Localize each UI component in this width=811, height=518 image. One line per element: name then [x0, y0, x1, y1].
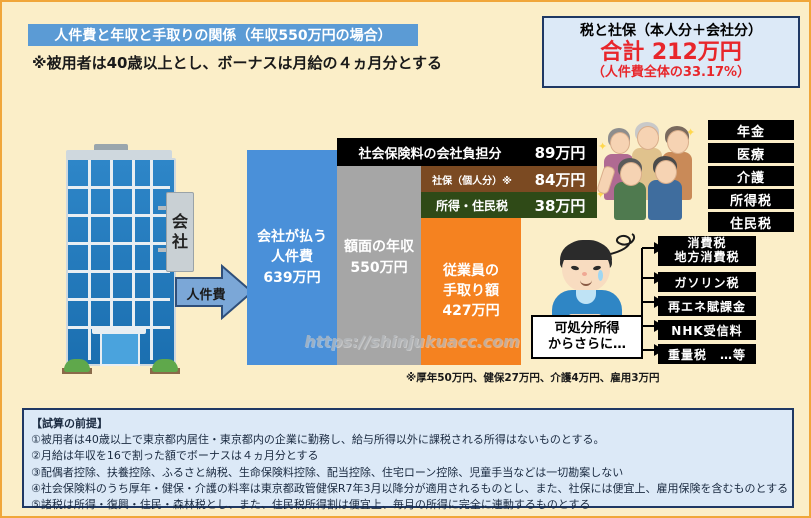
assumptions-note-box: 【試算の前提】 ①被用者は40歳以上で東京都内居住・東京都内の企業に勤務し、給与… [22, 408, 794, 508]
company-building-illustration: 会 社 [50, 144, 200, 374]
consumption-tag-renewable-levy: 再エネ賦課金 [658, 296, 756, 316]
person-body [614, 182, 646, 220]
tax-tag-shotokuzei: 所得税 [708, 189, 794, 209]
bar-net-label-1: 従業員の [443, 261, 499, 281]
callout-line-2: からさらに… [548, 337, 626, 353]
bar-gross-label: 額面の年収 [344, 237, 414, 257]
consumption-tag-nhk-fee: NHK受信料 [658, 320, 756, 340]
crowd-of-people-illustration: ✦ ✦ ✦ [600, 120, 704, 216]
company-sign-char-1: 会 [172, 212, 188, 232]
assumption-line: ①被用者は40歳以上で東京都内居住・東京都内の企業に勤務し、給与所得以外に課税さ… [31, 432, 785, 448]
building-mullion [88, 160, 91, 360]
total-tax-label: 税と社保（本人分＋会社分） [580, 24, 762, 39]
bush-icon [152, 359, 178, 372]
segment-employee-social-insurance: 社保（個人分）※ 84万円 [421, 166, 597, 192]
bar-net-label-2: 手取り額 [443, 281, 499, 301]
total-tax-percent: （人件費全体の33.17%） [592, 66, 750, 80]
building-floor-line [68, 270, 170, 273]
segment-income-resident-tax-label: 所得・住民税 [421, 197, 523, 214]
consumption-tag-shohizei-line-2: 地方消費税 [674, 251, 739, 265]
consumption-tag-gasoline: ガソリン税 [658, 272, 756, 292]
company-sign-char-2: 社 [172, 232, 188, 252]
person-head [667, 130, 689, 154]
total-tax-amount: 合計 212万円 [600, 40, 742, 65]
chart-footnote: ※厚年50万円、健保27万円、介護4万円、雇用3万円 [406, 370, 706, 386]
tax-tag-iryo: 医療 [708, 143, 794, 163]
page-title: 人件費と年収と手取りの関係（年収550万円の場合） [28, 24, 418, 46]
sweat-drop-icon [598, 270, 603, 281]
bar-company-label-1: 会社が払う [257, 227, 327, 247]
building-floor-line [68, 186, 170, 189]
building-floor-line [68, 298, 170, 301]
site-watermark: https://shinjukuacc.com [302, 332, 522, 356]
segment-employer-social-insurance-label: 社会保険料の会社負担分 [337, 143, 523, 162]
bar-gross-value: 550万円 [350, 258, 407, 278]
total-tax-box: 税と社保（本人分＋会社分） 合計 212万円 （人件費全体の33.17%） [542, 16, 800, 88]
assumptions-title: 【試算の前提】 [31, 415, 785, 431]
segment-employer-social-insurance: 社会保険料の会社負担分 89万円 [337, 138, 597, 166]
person-head [620, 162, 642, 186]
sparkle-icon: ✦ [598, 140, 607, 153]
bar-company-value: 639万円 [263, 268, 320, 288]
disposable-income-callout: 可処分所得 からさらに… [531, 315, 643, 359]
assumption-line: ⑤諸税は所得・復興・住民・森林税とし、また、住民税所得割は便宜上、毎月の所得に完… [31, 497, 785, 513]
assumption-line: ④社会保険料のうち厚年・健保・介護の料率は東京都政管健保R7年3月以降分が適用さ… [31, 481, 785, 497]
person-head [637, 126, 659, 150]
building-floor-line [68, 214, 170, 217]
tax-tag-juuminzei: 住民税 [708, 212, 794, 232]
segment-employee-social-insurance-label: 社保（個人分）※ [421, 172, 523, 187]
consumption-tag-shohizei-line-1: 消費税 [687, 237, 726, 251]
person-head [610, 132, 630, 154]
bush-icon [64, 359, 90, 372]
building-mullion [150, 160, 153, 360]
tax-tag-nenkin: 年金 [708, 120, 794, 140]
assumption-line: ③配偶者控除、扶養控除、ふるさと納税、生命保険料控除、配当控除、住宅ローン控除、… [31, 465, 785, 481]
page-subtitle: ※被用者は40歳以上とし、ボーナスは月給の４ヵ月分とする [32, 50, 462, 74]
bar-net-value: 427万円 [442, 301, 499, 321]
bar-company-label-2: 人件費 [271, 247, 313, 267]
person-bangs [560, 242, 612, 260]
person-head [655, 160, 677, 184]
building-floor-line [68, 242, 170, 245]
building-door [100, 332, 140, 366]
segment-income-resident-tax: 所得・住民税 38万円 [421, 192, 597, 218]
consumption-tag-shohizei: 消費税 地方消費税 [658, 236, 756, 266]
assumption-line: ②月給は年収を16で割った額でボーナスは４ヵ月分とする [31, 448, 785, 464]
person-body [648, 180, 682, 220]
segment-employee-social-insurance-value: 84万円 [523, 169, 597, 190]
consumption-tag-weight-tax: 重量税 …等 [658, 344, 756, 364]
tax-tag-kaigo: 介護 [708, 166, 794, 186]
infographic-frame: 人件費と年収と手取りの関係（年収550万円の場合） ※被用者は40歳以上とし、ボ… [0, 0, 811, 518]
segment-income-resident-tax-value: 38万円 [523, 195, 597, 216]
company-sign: 会 社 [166, 192, 194, 272]
segment-employer-social-insurance-value: 89万円 [523, 142, 597, 163]
personnel-cost-arrow-label: 人件費 [180, 284, 232, 303]
personnel-cost-arrow: 人件費 [174, 264, 254, 320]
callout-line-1: 可処分所得 [554, 321, 619, 337]
person-nose [582, 272, 587, 276]
